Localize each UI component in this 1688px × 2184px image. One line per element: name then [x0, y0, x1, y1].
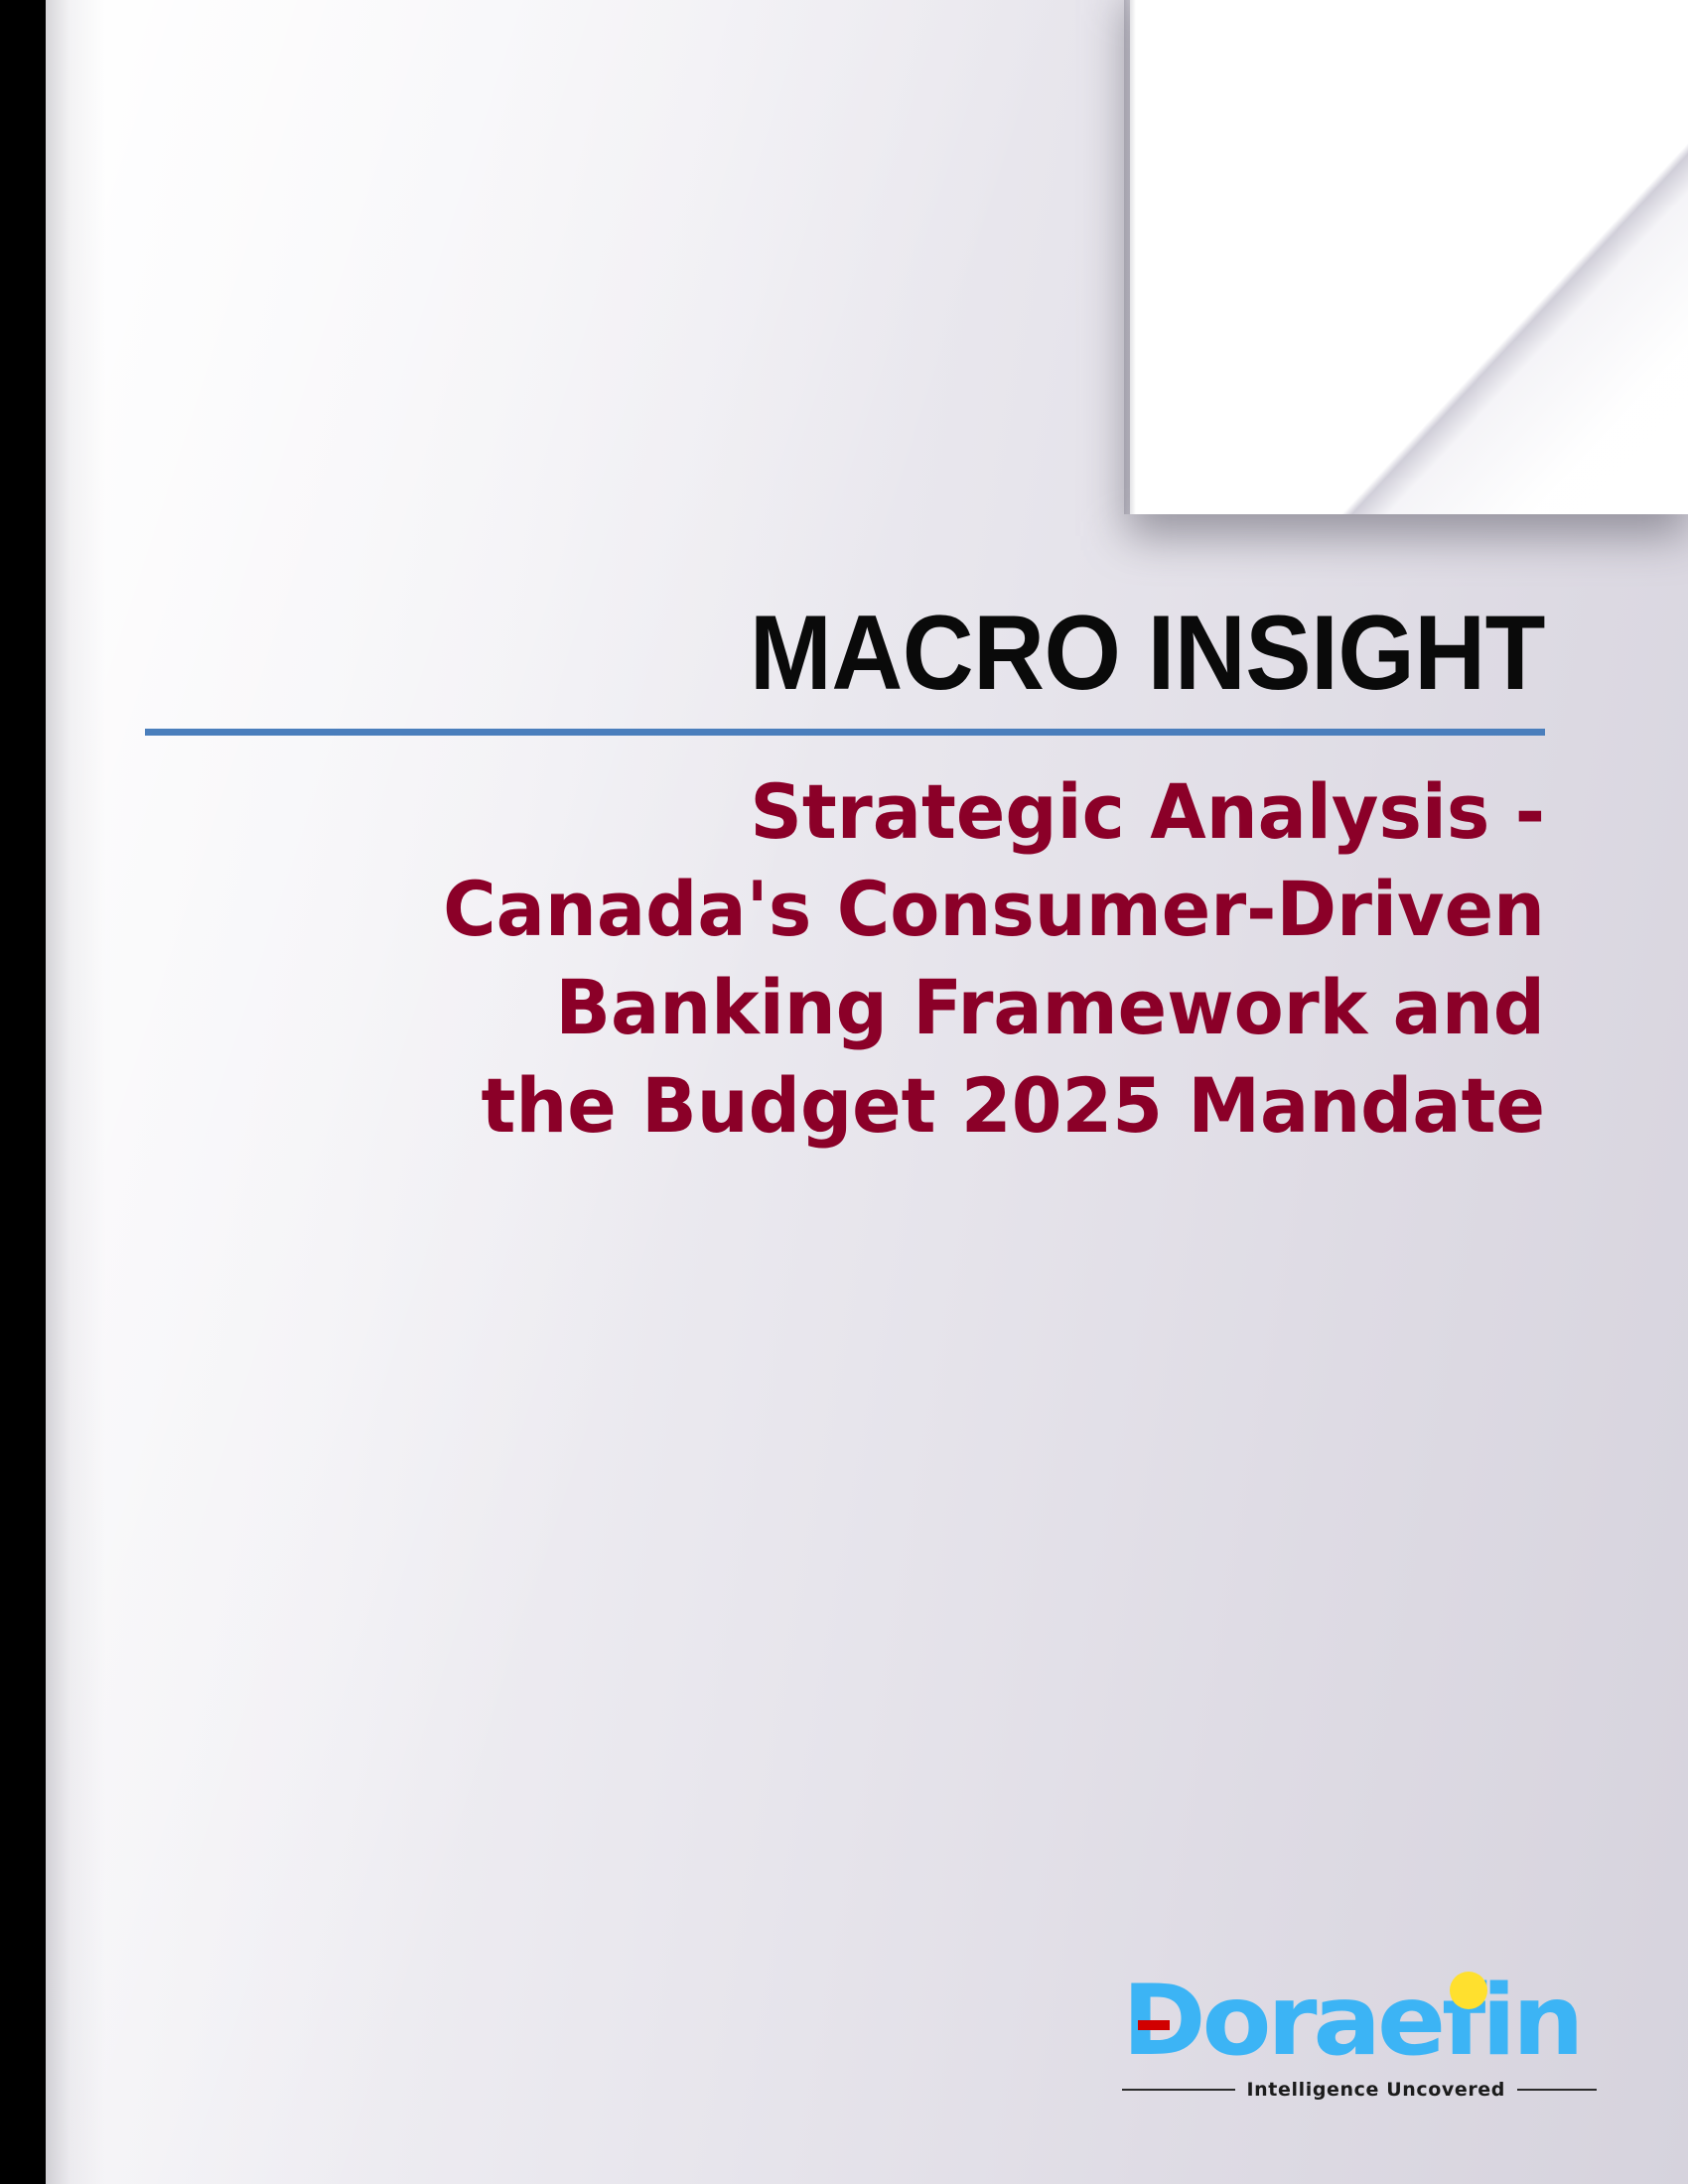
tagline-rule-right — [1517, 2089, 1597, 2091]
corner-fold-left-edge — [1124, 0, 1136, 514]
report-cover-page: MACRO INSIGHT Strategic Analysis - Canad… — [0, 0, 1688, 2184]
tagline-text: Intelligence Uncovered — [1247, 2079, 1505, 2101]
subtitle-line-3: Banking Framework and — [555, 963, 1545, 1051]
subtitle-line-1: Strategic Analysis - — [750, 767, 1545, 856]
logo-tagline: Intelligence Uncovered — [1122, 2079, 1597, 2101]
title-divider-rule — [145, 729, 1545, 736]
corner-fold-crease-icon — [1130, 0, 1688, 514]
logo-wordmark: Doraefin — [1122, 1974, 1599, 2077]
subtitle-line-4: the Budget 2025 Mandate — [481, 1061, 1545, 1150]
logo-wordmark-text: Doraefin — [1122, 1970, 1580, 2073]
cover-title-block: MACRO INSIGHT Strategic Analysis - Canad… — [145, 596, 1545, 1156]
page-spine-edge — [0, 0, 46, 2184]
brand-logo: Doraefin Intelligence Uncovered — [1122, 1974, 1599, 2101]
logo-yellow-dot-icon — [1450, 1972, 1487, 2009]
logo-red-dash-icon — [1138, 2020, 1170, 2030]
report-type-heading: MACRO INSIGHT — [243, 596, 1545, 711]
subtitle-line-2: Canada's Consumer-Driven — [443, 865, 1545, 953]
page-gutter-shading — [46, 0, 105, 2184]
report-subtitle: Strategic Analysis - Canada's Consumer-D… — [201, 763, 1545, 1156]
tagline-rule-left — [1122, 2089, 1235, 2091]
